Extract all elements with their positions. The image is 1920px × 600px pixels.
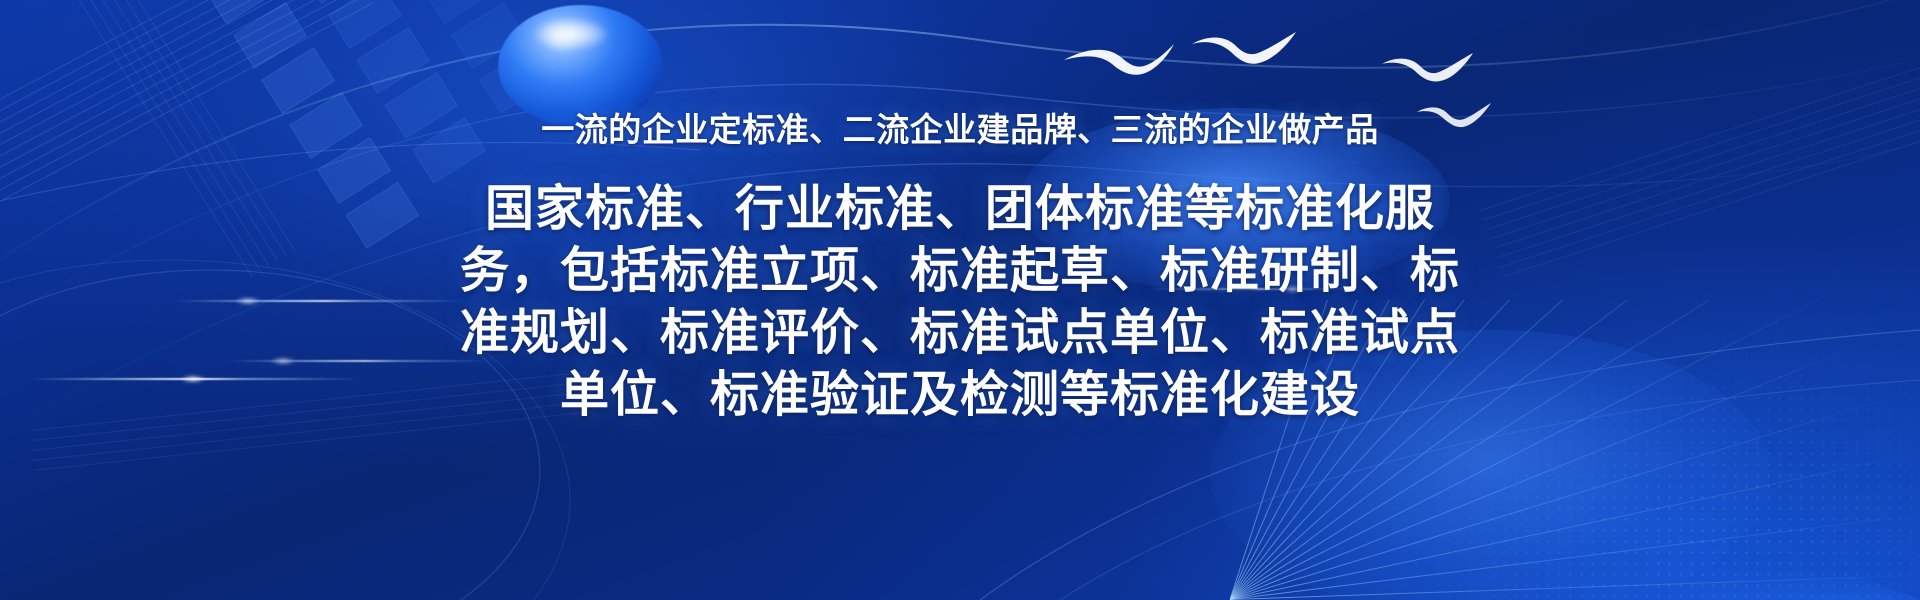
banner-body-text: 国家标准、行业标准、团体标准等标准化服务，包括标准立项、标准起草、标准研制、标准… — [455, 178, 1465, 426]
promo-banner: 一流的企业定标准、二流企业建品牌、三流的企业做产品 国家标准、行业标准、团体标准… — [0, 0, 1920, 600]
banner-headline: 一流的企业定标准、二流企业建品牌、三流的企业做产品 — [541, 113, 1379, 146]
banner-text-block: 一流的企业定标准、二流企业建品牌、三流的企业做产品 国家标准、行业标准、团体标准… — [0, 0, 1920, 600]
